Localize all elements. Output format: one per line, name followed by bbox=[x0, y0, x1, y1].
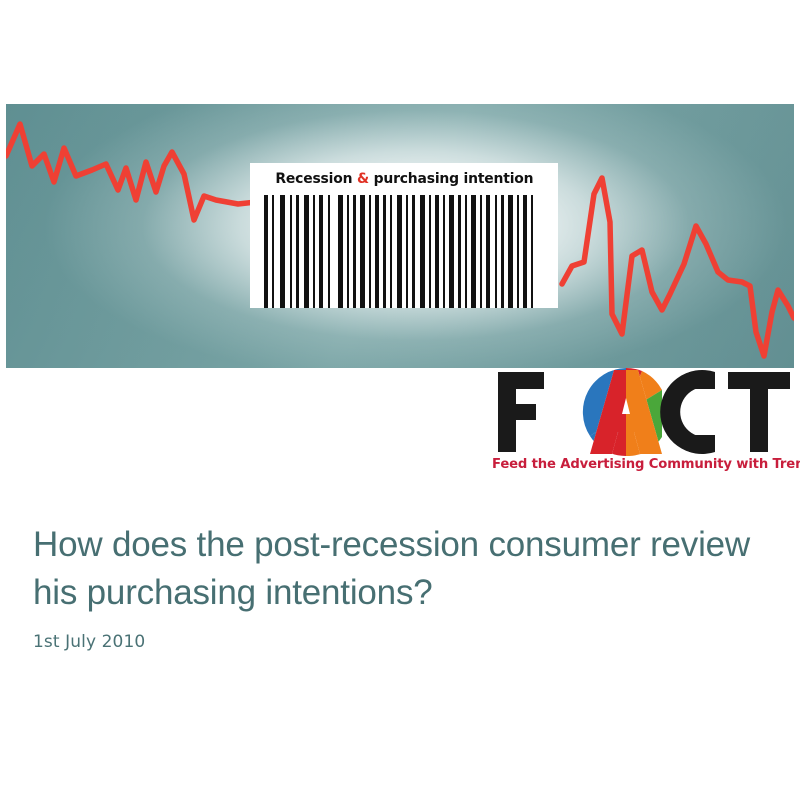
logo-letter-a-wheel bbox=[583, 368, 669, 456]
barcode-caption-ampersand: & bbox=[357, 171, 369, 187]
barcode-caption-suffix: purchasing intention bbox=[369, 171, 533, 187]
barcode-bars bbox=[250, 195, 558, 308]
barcode-caption: Recession & purchasing intention bbox=[250, 163, 558, 195]
barcode-graphic: Recession & purchasing intention bbox=[250, 163, 558, 308]
fact-wordmark bbox=[490, 368, 794, 456]
page-date: 1st July 2010 bbox=[33, 632, 763, 652]
barcode-caption-prefix: Recession bbox=[275, 171, 357, 187]
page-title: How does the post-recession consumer rev… bbox=[33, 521, 763, 617]
title-block: How does the post-recession consumer rev… bbox=[33, 521, 763, 652]
logo-letter-a-body bbox=[586, 368, 666, 456]
fact-tagline: Feed the Advertising Community with Tren… bbox=[492, 457, 792, 472]
logo-letter-t bbox=[728, 372, 790, 452]
logo-letter-f bbox=[498, 372, 544, 452]
recession-banner-image: Recession & purchasing intention bbox=[6, 104, 794, 368]
fact-logo: Feed the Advertising Community with Tren… bbox=[490, 368, 794, 478]
